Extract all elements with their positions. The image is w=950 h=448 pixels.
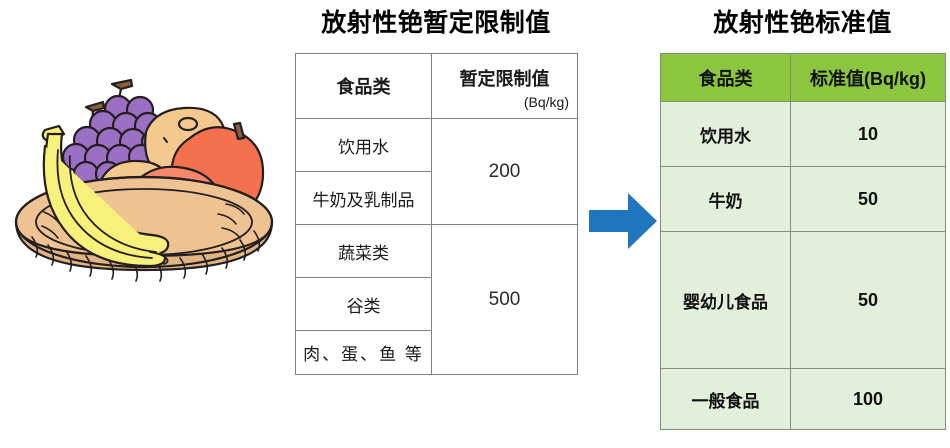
- table-row: 一般食品 100: [661, 369, 946, 430]
- header-value-main: 暂定限制值: [440, 65, 569, 91]
- table-row: 饮用水 10: [661, 102, 946, 167]
- cell-category-meat-egg-fish: 肉、蛋、鱼 等: [296, 331, 432, 375]
- header-cell-standard: 标准值(Bq/kg): [791, 54, 946, 102]
- standard-limit-table: 食品类 标准值(Bq/kg) 饮用水 10 牛奶 50 婴幼儿食品 50 一般食…: [660, 53, 946, 430]
- cell-standard-general-food: 100: [791, 369, 946, 430]
- cell-category-milk: 牛奶: [661, 167, 791, 232]
- cell-category-vegetables: 蔬菜类: [296, 225, 432, 278]
- table-header-row: 食品类 标准值(Bq/kg): [661, 54, 946, 102]
- provisional-limit-block: 放射性铯暂定限制值 食品类 暂定限制值 (Bq/kg) 饮用水 200 牛奶及乳…: [295, 6, 577, 375]
- table-row: 饮用水 200: [296, 119, 578, 172]
- right-arrow-icon: [589, 193, 657, 249]
- cell-category-drinking-water: 饮用水: [661, 102, 791, 167]
- cell-limit-500: 500: [432, 225, 578, 375]
- table-header-row: 食品类 暂定限制值 (Bq/kg): [296, 54, 578, 119]
- cell-standard-milk: 50: [791, 167, 946, 232]
- header-cell-category: 食品类: [661, 54, 791, 102]
- right-arrow-svg: [589, 193, 657, 249]
- header-cell-value: 暂定限制值 (Bq/kg): [432, 54, 578, 119]
- cell-category-drinking-water: 饮用水: [296, 119, 432, 172]
- table-row: 牛奶 50: [661, 167, 946, 232]
- provisional-limit-table: 食品类 暂定限制值 (Bq/kg) 饮用水 200 牛奶及乳制品 蔬菜类 500…: [295, 53, 578, 375]
- arrow-shape: [589, 193, 657, 249]
- right-table-title: 放射性铯标准值: [660, 6, 945, 40]
- fruit-basket-illustration: [8, 62, 280, 292]
- cell-standard-infant-food: 50: [791, 232, 946, 369]
- cell-limit-200: 200: [432, 119, 578, 225]
- cell-category-general-food: 一般食品: [661, 369, 791, 430]
- fruit-basket-svg: [8, 62, 280, 292]
- table-row: 蔬菜类 500: [296, 225, 578, 278]
- cell-category-milk-dairy: 牛奶及乳制品: [296, 172, 432, 225]
- cell-standard-drinking-water: 10: [791, 102, 946, 167]
- header-cell-category: 食品类: [296, 54, 432, 119]
- cell-category-infant-food: 婴幼儿食品: [661, 232, 791, 369]
- table-row: 婴幼儿食品 50: [661, 232, 946, 369]
- cell-category-grains: 谷类: [296, 278, 432, 331]
- left-table-title: 放射性铯暂定限制值: [295, 6, 577, 40]
- standard-limit-block: 放射性铯标准值 食品类 标准值(Bq/kg) 饮用水 10 牛奶 50 婴幼儿食…: [660, 6, 945, 430]
- header-value-unit: (Bq/kg): [440, 94, 569, 110]
